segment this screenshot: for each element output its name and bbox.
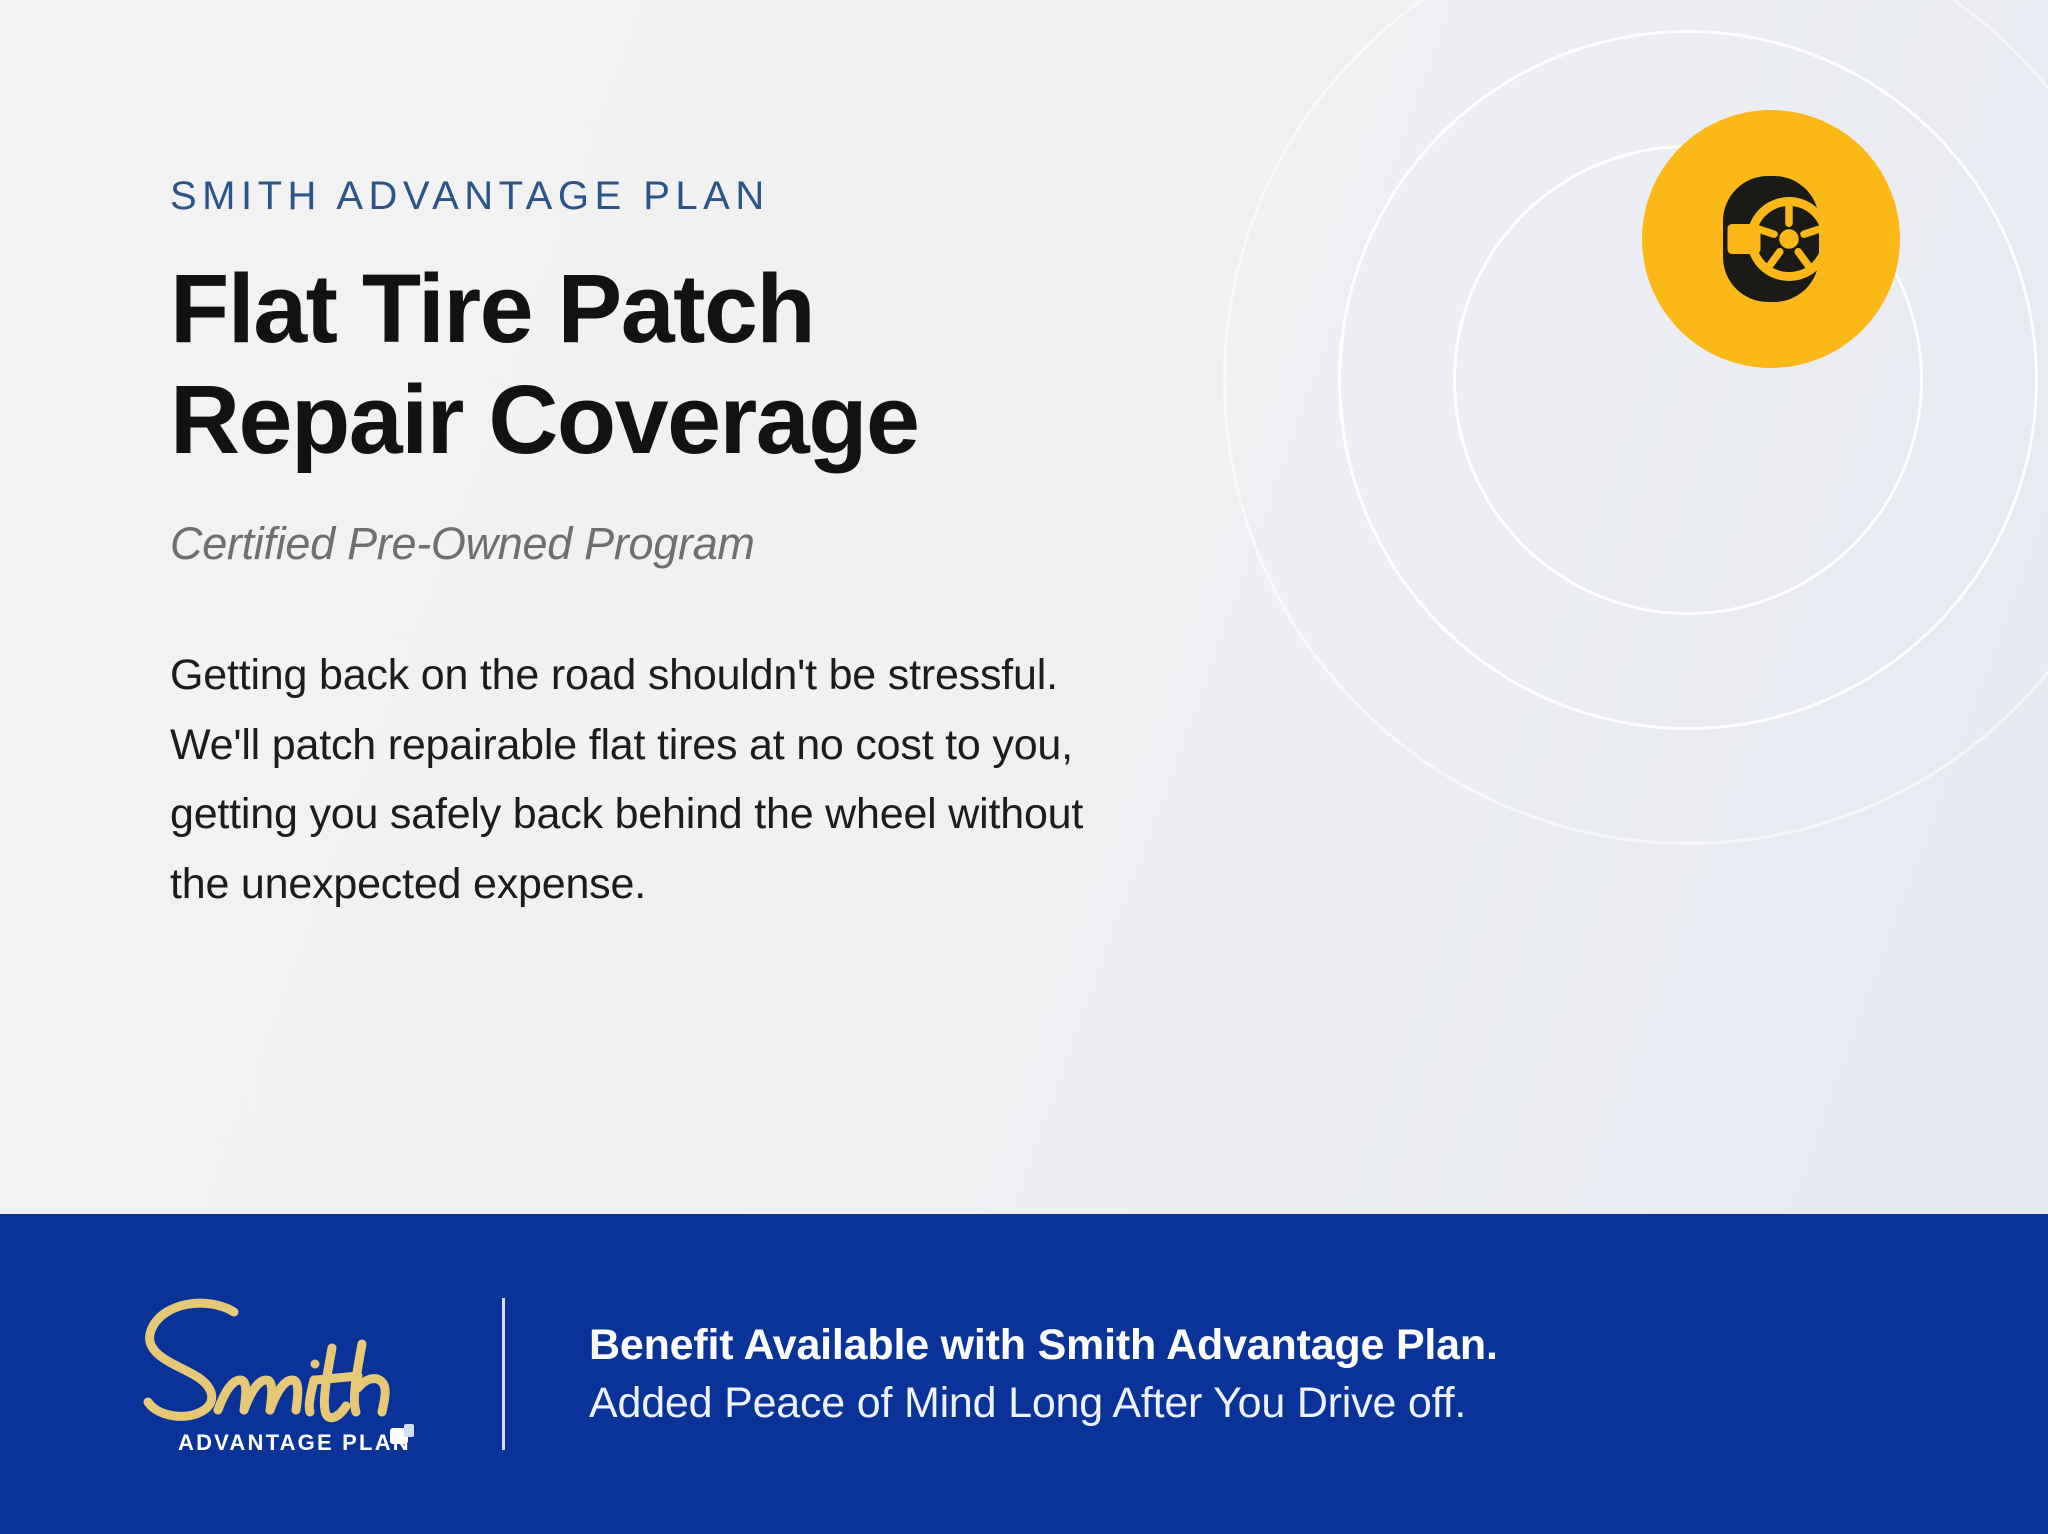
logo-subtext: ADVANTAGE PLAN: [178, 1430, 411, 1455]
concentric-rings-decoration: [1188, 0, 2048, 880]
hero-content: SMITH ADVANTAGE PLAN Flat Tire Patch Rep…: [0, 0, 1120, 920]
eyebrow-label: SMITH ADVANTAGE PLAN: [170, 176, 1120, 216]
footer-text: Benefit Available with Smith Advantage P…: [589, 1316, 1498, 1432]
promo-card: SMITH ADVANTAGE PLAN Flat Tire Patch Rep…: [0, 0, 2048, 1534]
smith-advantage-plan-logo: ADVANTAGE PLAN: [122, 1284, 452, 1464]
tire-wheel-icon: [1696, 164, 1846, 314]
ring-middle: [1338, 30, 2038, 730]
body-paragraph: Getting back on the road shouldn't be st…: [170, 641, 1120, 920]
tire-badge: [1642, 110, 1900, 368]
page-title: Flat Tire Patch Repair Coverage: [170, 254, 1120, 475]
headline-line-2: Repair Coverage: [170, 365, 1120, 476]
footer-headline: Benefit Available with Smith Advantage P…: [589, 1316, 1498, 1374]
footer-subline: Added Peace of Mind Long After You Drive…: [589, 1374, 1498, 1432]
headline-line-1: Flat Tire Patch: [170, 254, 1120, 365]
ring-outer: [1223, 0, 2048, 845]
subtitle: Certified Pre-Owned Program: [170, 517, 1120, 571]
footer-divider: [502, 1298, 505, 1450]
footer-band: ADVANTAGE PLAN Benefit Available with Sm…: [0, 1214, 2048, 1534]
